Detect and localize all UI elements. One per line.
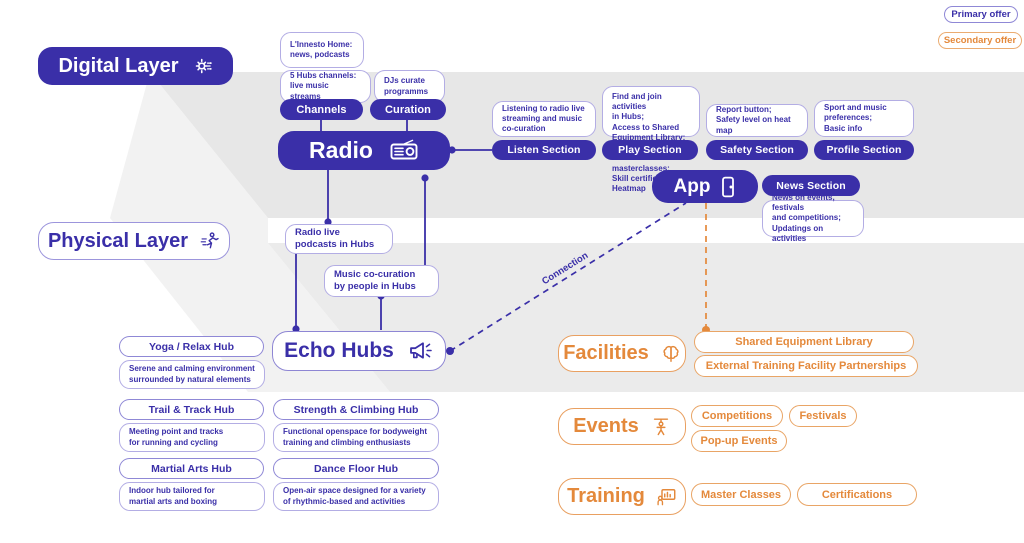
events-node[interactable]: Events xyxy=(558,408,686,445)
note-news-section: News on events, festivals and competitio… xyxy=(762,200,864,237)
hub-title-martial-arts[interactable]: Martial Arts Hub xyxy=(119,458,264,479)
chip-safety-section[interactable]: Safety Section xyxy=(706,140,808,160)
presentation-icon xyxy=(657,487,677,507)
facilities-node[interactable]: Facilities xyxy=(558,335,686,372)
note-listen-section: Listening to radio live streaming and mu… xyxy=(492,101,596,137)
flag-runner-icon xyxy=(651,416,671,438)
digital-layer-chip[interactable]: Digital Layer xyxy=(38,47,233,85)
app-node[interactable]: App xyxy=(652,170,758,203)
chip-curation[interactable]: Curation xyxy=(370,99,446,120)
note-innesto-home: L'Innesto Home: news, podcasts xyxy=(280,32,364,68)
physical-layer-label: Physical Layer xyxy=(48,230,188,253)
chip-listen-section[interactable]: Listen Section xyxy=(492,140,596,160)
hub-title-yoga-relax[interactable]: Yoga / Relax Hub xyxy=(119,336,264,357)
diagram-canvas: Connection Primary offer Secondary offer… xyxy=(0,0,1024,543)
training-node[interactable]: Training xyxy=(558,478,686,515)
radio-icon xyxy=(389,139,419,163)
smartphone-icon xyxy=(720,176,736,198)
chip-profile-section[interactable]: Profile Section xyxy=(814,140,914,160)
training-item-master-classes[interactable]: Master Classes xyxy=(691,483,791,506)
app-label: App xyxy=(674,176,711,198)
bridge-radio-live-podcasts: Radio live podcasts in Hubs xyxy=(285,224,393,254)
chip-channels[interactable]: Channels xyxy=(280,99,363,120)
events-item-festivals[interactable]: Festivals xyxy=(789,405,857,427)
hub-desc-strength-climbing: Functional openspace for bodyweight trai… xyxy=(273,423,439,452)
hub-title-strength-climbing[interactable]: Strength & Climbing Hub xyxy=(273,399,439,420)
hub-desc-yoga-relax: Serene and calming environment surrounde… xyxy=(119,360,265,389)
events-item-competitions[interactable]: Competitions xyxy=(691,405,783,427)
hub-desc-martial-arts: Indoor hub tailored for martial arts and… xyxy=(119,482,265,511)
training-label: Training xyxy=(567,485,645,508)
echo-hubs-node[interactable]: Echo Hubs xyxy=(272,331,446,371)
facilities-item-shared-equipment-library[interactable]: Shared Equipment Library xyxy=(694,331,914,353)
chip-play-section[interactable]: Play Section xyxy=(602,140,698,160)
gear-circuit-icon xyxy=(193,56,213,76)
training-item-certifications[interactable]: Certifications xyxy=(797,483,917,506)
facilities-item-external-partnerships[interactable]: External Training Facility Partnerships xyxy=(694,355,918,377)
note-play-section: Find and join activities in Hubs; Access… xyxy=(602,86,700,137)
physical-layer-chip[interactable]: Physical Layer xyxy=(38,222,230,260)
facilities-label: Facilities xyxy=(563,342,649,365)
hub-title-trail-track[interactable]: Trail & Track Hub xyxy=(119,399,264,420)
runner-icon xyxy=(200,231,220,251)
events-item-popup-events[interactable]: Pop-up Events xyxy=(691,430,787,452)
brain-icon xyxy=(661,344,681,364)
radio-label: Radio xyxy=(309,137,373,164)
hub-desc-trail-track: Meeting point and tracks for running and… xyxy=(119,423,265,452)
note-profile-section: Sport and music preferences; Basic info xyxy=(814,100,914,137)
radio-node[interactable]: Radio xyxy=(278,131,450,170)
digital-layer-label: Digital Layer xyxy=(58,55,178,78)
megaphone-icon xyxy=(408,340,434,362)
legend-secondary-offer: Secondary offer xyxy=(938,32,1022,49)
bridge-music-cocuration: Music co-curation by people in Hubs xyxy=(324,265,439,297)
events-label: Events xyxy=(573,415,639,438)
legend-primary-offer: Primary offer xyxy=(944,6,1018,23)
hub-desc-dance-floor: Open-air space designed for a variety of… xyxy=(273,482,439,511)
note-safety-section: Report button; Safety level on heat map xyxy=(706,104,808,137)
hub-title-dance-floor[interactable]: Dance Floor Hub xyxy=(273,458,439,479)
echo-hubs-label: Echo Hubs xyxy=(284,339,394,363)
